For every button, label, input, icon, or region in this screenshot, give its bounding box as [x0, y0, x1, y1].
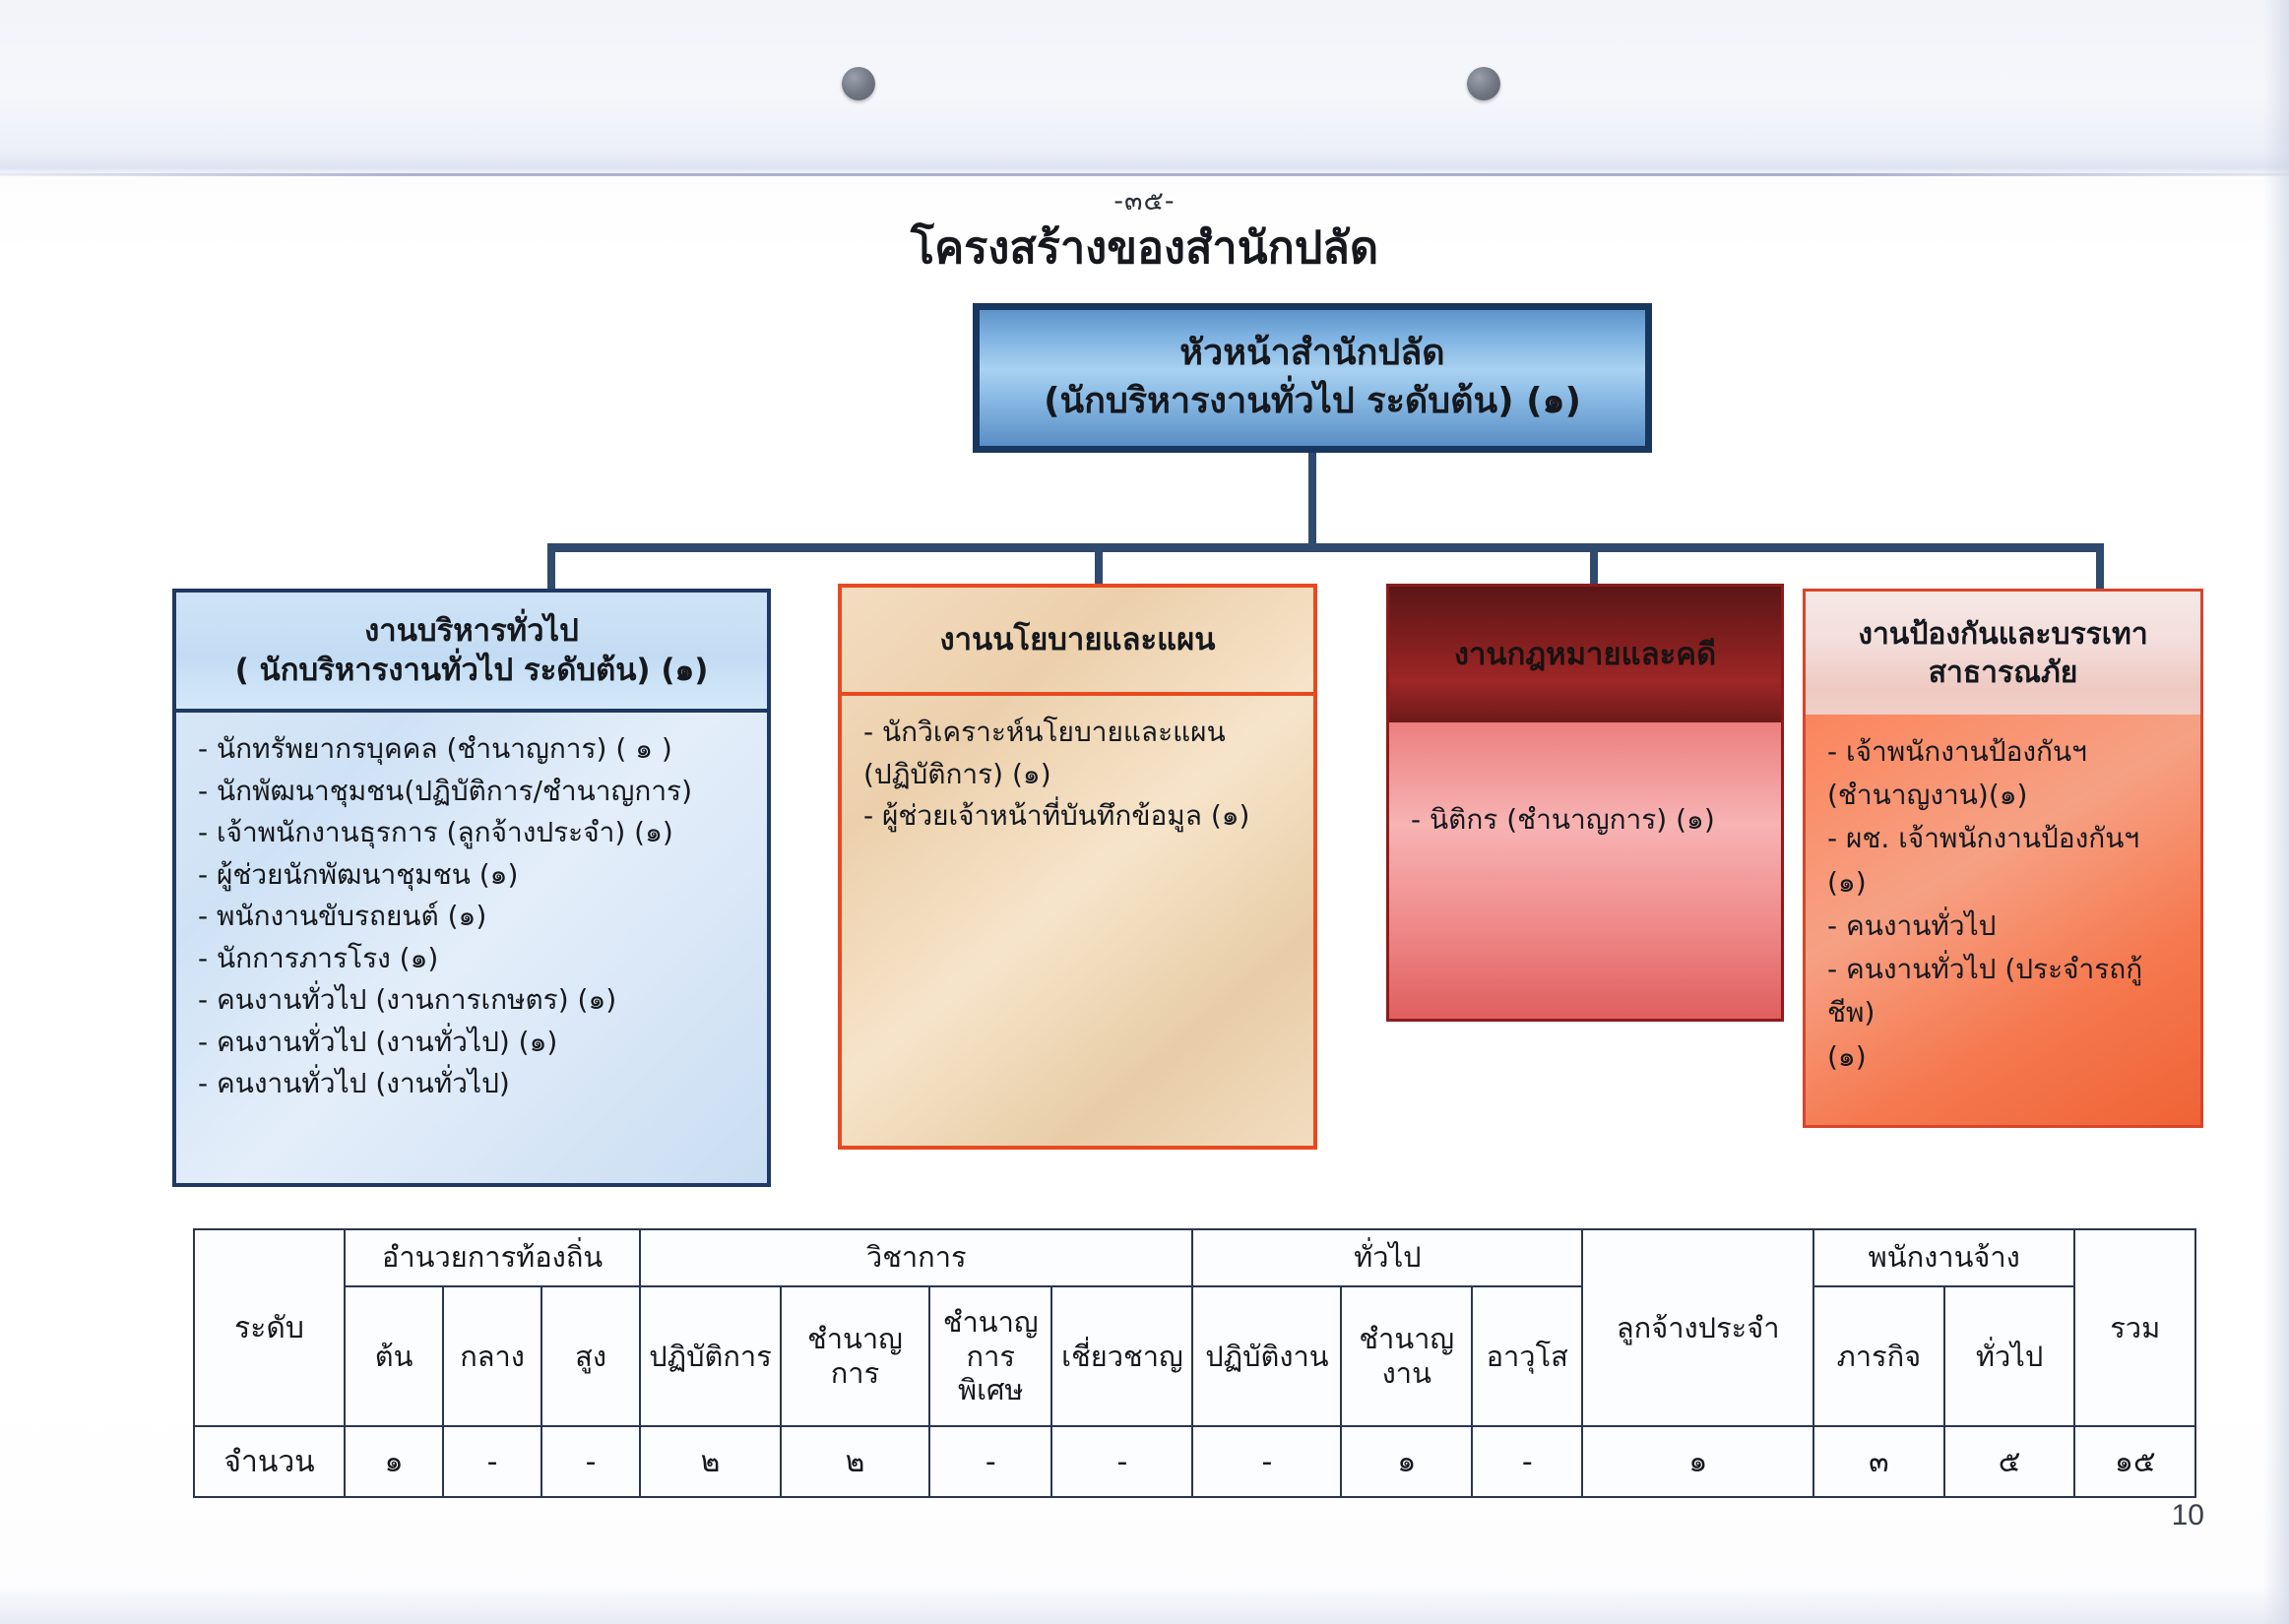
- org-node-head-subtitle: (นักบริหารงานทั่วไป ระดับต้น) (๑): [1044, 378, 1581, 426]
- org-node-head-title: หัวหน้าสำนักปลัด: [1179, 330, 1444, 378]
- list-item: - คนงานทั่วไป (ประจำรถกู้ชีพ) (๑): [1827, 948, 2181, 1079]
- org-unit-2-title: งานนโยบายและแผน: [940, 620, 1216, 659]
- table-cell: ๒: [781, 1426, 929, 1497]
- org-unit-4-body: - เจ้าพนักงานป้องกันฯ (ชำนาญงาน)(๑) - ผช…: [1806, 715, 2200, 1125]
- table-sub-header-row: ต้น กลาง สูง ปฏิบัติการ ชำนาญการ ชำนาญ ก…: [194, 1286, 2195, 1426]
- table-col-expert: เชี่ยวชาญ: [1051, 1286, 1192, 1426]
- table-row: จำนวน ๑ - - ๒ ๒ - - - ๑ - ๑ ๓ ๕ ๑๕: [194, 1426, 2195, 1497]
- table-cell: ๑: [345, 1426, 443, 1497]
- table-cell: -: [443, 1426, 541, 1497]
- list-item: - คนงานทั่วไป: [1827, 905, 2181, 948]
- page-number: 10: [2172, 1499, 2204, 1532]
- table-col-experienced: ชำนาญ งาน: [1341, 1286, 1472, 1426]
- table-cell: ๓: [1813, 1426, 1944, 1497]
- org-unit-1-header: งานบริหารทั่วไป ( นักบริหารงานทั่วไป ระด…: [176, 593, 767, 713]
- list-item: - ผู้ช่วยเจ้าหน้าที่บันทึกข้อมูล (๑): [863, 795, 1294, 838]
- table-col-level-beginner: ต้น: [345, 1286, 443, 1426]
- table-group-hired-staff: พนักงานจ้าง: [1813, 1229, 2074, 1286]
- table-col-level-high: สูง: [541, 1286, 640, 1426]
- table-group-academic: วิชาการ: [640, 1229, 1192, 1286]
- list-item: - เจ้าพนักงานธุรการ (ลูกจ้างประจำ) (๑): [198, 812, 747, 854]
- table-cell: -: [929, 1426, 1052, 1497]
- table-col-level-middle: กลาง: [443, 1286, 541, 1426]
- table-cell: ๑: [1341, 1426, 1472, 1497]
- list-item: - ผู้ช่วยนักพัฒนาชุมชน (๑): [198, 854, 747, 897]
- list-item: - ผช. เจ้าพนักงานป้องกันฯ (๑): [1827, 817, 2181, 904]
- org-unit-law-and-litigation: งานกฎหมายและคดี - นิติกร (ชำนาญการ) (๑): [1386, 584, 1784, 1022]
- table-col-operational: ปฏิบัติการ: [640, 1286, 781, 1426]
- list-item: - นักทรัพยากรบุคคล (ชำนาญการ) ( ๑ ): [198, 728, 747, 771]
- org-unit-3-body: - นิติกร (ชำนาญการ) (๑): [1389, 722, 1781, 1019]
- table-col-total: รวม: [2074, 1229, 2195, 1426]
- table-group-local-executive: อำนวยการท้องถิ่น: [345, 1229, 640, 1286]
- staff-summary-table: ระดับ อำนวยการท้องถิ่น วิชาการ ทั่วไป ลู…: [193, 1228, 2196, 1498]
- table-cell: -: [541, 1426, 640, 1497]
- table-cell: -: [1472, 1426, 1582, 1497]
- connector-horizontal-bus: [547, 543, 2104, 552]
- list-item: - นักการภารโรง (๑): [198, 938, 747, 980]
- list-item: - พนักงานขับรถยนต์ (๑): [198, 896, 747, 938]
- connector-root-vertical: [1308, 453, 1316, 547]
- table-cell: ๕: [1944, 1426, 2075, 1497]
- org-unit-policy-and-plan: งานนโยบายและแผน - นักวิเคราะห์นโยบายและแ…: [838, 584, 1317, 1150]
- org-node-head-of-office: หัวหน้าสำนักปลัด (นักบริหารงานทั่วไป ระด…: [973, 303, 1652, 453]
- list-item: - คนงานทั่วไป (งานทั่วไป): [198, 1063, 747, 1105]
- org-unit-general-administration: งานบริหารทั่วไป ( นักบริหารงานทั่วไป ระด…: [172, 589, 771, 1187]
- table-col-special-professional: ชำนาญ การ พิเศษ: [929, 1286, 1052, 1426]
- org-unit-1-title: งานบริหารทั่วไป: [364, 611, 579, 651]
- org-unit-1-body: - นักทรัพยากรบุคคล (ชำนาญการ) ( ๑ ) - นั…: [176, 713, 767, 1183]
- org-unit-3-title: งานกฎหมายและคดี: [1454, 635, 1716, 674]
- org-unit-2-body: - นักวิเคราะห์นโยบายและแผน (ปฏิบัติการ) …: [842, 696, 1313, 1146]
- table-row-label-count: จำนวน: [194, 1426, 345, 1497]
- list-item: - คนงานทั่วไป (งานการเกษตร) (๑): [198, 979, 747, 1022]
- list-item: - เจ้าพนักงานป้องกันฯ (ชำนาญงาน)(๑): [1827, 730, 2181, 817]
- list-item: - นักวิเคราะห์นโยบายและแผน (ปฏิบัติการ) …: [863, 712, 1294, 795]
- org-unit-4-title: งานป้องกันและบรรเทา: [1858, 615, 2147, 654]
- list-item: - นักพัฒนาชุมชน(ปฏิบัติการ/ชำนาญการ): [198, 771, 747, 813]
- list-item: - นิติกร (ชำนาญการ) (๑): [1411, 799, 1761, 842]
- document-page: -๓๕- โครงสร้างของสำนักปลัด หัวหน้าสำนักป…: [0, 0, 2289, 1624]
- table-group-header-row: ระดับ อำนวยการท้องถิ่น วิชาการ ทั่วไป ลู…: [194, 1229, 2195, 1286]
- table-group-general: ทั่วไป: [1192, 1229, 1582, 1286]
- table-col-senior: อาวุโส: [1472, 1286, 1582, 1426]
- table-cell: -: [1192, 1426, 1341, 1497]
- table-cell: ๒: [640, 1426, 781, 1497]
- org-unit-4-subtitle: สาธารณภัย: [1929, 654, 2078, 692]
- org-unit-4-header: งานป้องกันและบรรเทา สาธารณภัย: [1806, 592, 2200, 715]
- table-cell: ๑๕: [2074, 1426, 2195, 1497]
- org-unit-2-header: งานนโยบายและแผน: [842, 588, 1313, 696]
- table-cell: ๑: [1582, 1426, 1813, 1497]
- table-col-professional: ชำนาญการ: [781, 1286, 929, 1426]
- table-cell: -: [1051, 1426, 1192, 1497]
- table-col-operative: ปฏิบัติงาน: [1192, 1286, 1341, 1426]
- org-unit-disaster-prevention: งานป้องกันและบรรเทา สาธารณภัย - เจ้าพนัก…: [1803, 589, 2203, 1128]
- list-item: - คนงานทั่วไป (งานทั่วไป) (๑): [198, 1022, 747, 1064]
- table-col-general-staff: ทั่วไป: [1944, 1286, 2075, 1426]
- table-col-mission-staff: ภารกิจ: [1813, 1286, 1944, 1426]
- table-col-permanent-employee: ลูกจ้างประจำ: [1582, 1229, 1813, 1426]
- org-unit-1-subtitle: ( นักบริหารงานทั่วไป ระดับต้น) (๑): [235, 651, 709, 690]
- org-unit-3-header: งานกฎหมายและคดี: [1389, 587, 1781, 722]
- table-stub-header: ระดับ: [194, 1229, 345, 1426]
